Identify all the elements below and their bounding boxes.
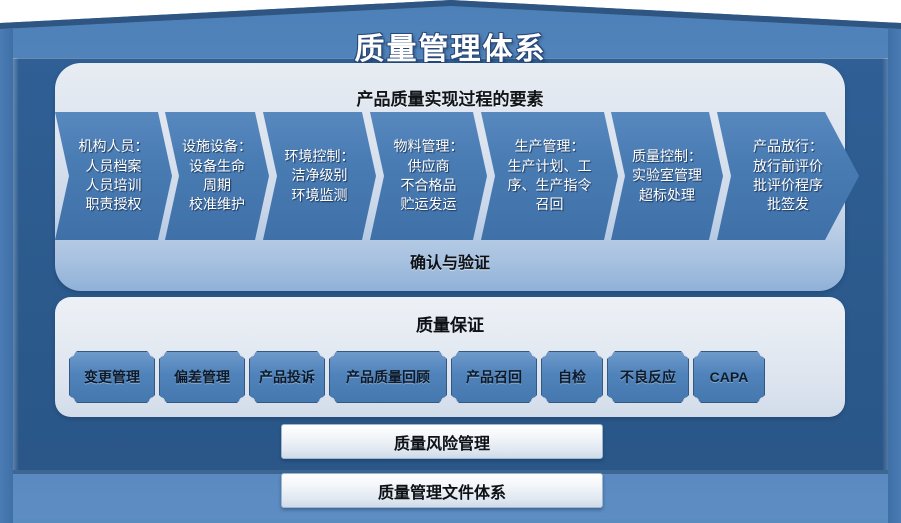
assurance-item[interactable]: 产品质量回顾 [329, 351, 447, 403]
corner-dot-icon [239, 397, 248, 406]
wall-highlight-right [882, 58, 888, 470]
quality-management-system-diagram: 质量管理体系 产品质量实现过程的要素 确认与验证 机构人员：人员档案人员培训职责… [0, 0, 901, 523]
corner-dot-icon [538, 348, 547, 357]
quality-risk-management-bar[interactable]: 质量风险管理 [281, 424, 603, 459]
assurance-item[interactable]: 不良反应 [607, 351, 689, 403]
assurance-item-label: 产品召回 [466, 367, 522, 387]
corner-dot-icon [690, 397, 699, 406]
assurance-item[interactable]: 偏差管理 [159, 351, 245, 403]
corner-dot-icon [604, 348, 613, 357]
assurance-item-label: 自检 [558, 367, 586, 387]
assurance-item-label: CAPA [710, 369, 749, 385]
corner-dot-icon [326, 348, 335, 357]
corner-dot-icon [683, 348, 692, 357]
corner-dot-icon [66, 348, 75, 357]
assurance-item-label: 偏差管理 [174, 367, 230, 387]
assurance-item[interactable]: 产品投诉 [249, 351, 325, 403]
corner-dot-icon [239, 348, 248, 357]
process-step-label: 物料管理：供应商不合格品贮运发运 [390, 137, 468, 214]
process-panel-heading: 产品质量实现过程的要素 [55, 85, 845, 110]
frame-left-column [0, 29, 13, 523]
corner-dot-icon [326, 397, 335, 406]
corner-dot-icon [597, 348, 606, 357]
process-step-4[interactable]: 物料管理：供应商不合格品贮运发运 [370, 112, 487, 240]
corner-dot-icon [531, 397, 540, 406]
corner-dot-icon [597, 397, 606, 406]
corner-dot-icon [441, 397, 450, 406]
process-step-1[interactable]: 机构人员：人员档案人员培训职责授权 [55, 112, 172, 240]
assurance-item[interactable]: 产品召回 [451, 351, 537, 403]
process-step-label: 机构人员：人员档案人员培训职责授权 [75, 137, 153, 214]
assurance-item[interactable]: CAPA [693, 351, 765, 403]
assurance-item[interactable]: 自检 [541, 351, 603, 403]
quality-assurance-panel: 质量保证 变更管理偏差管理产品投诉产品质量回顾产品召回自检不良反应CAPA [55, 297, 845, 417]
corner-dot-icon [683, 397, 692, 406]
corner-dot-icon [531, 348, 540, 357]
process-step-6[interactable]: 质量控制：实验室管理超标处理 [611, 112, 723, 240]
corner-dot-icon [319, 348, 328, 357]
corner-dot-icon [759, 348, 768, 357]
assurance-item[interactable]: 变更管理 [69, 351, 155, 403]
assurance-item-label: 产品投诉 [259, 367, 315, 387]
corner-dot-icon [441, 348, 450, 357]
wall-highlight-left [13, 58, 19, 470]
corner-dot-icon [690, 348, 699, 357]
process-step-label: 环境控制：洁净级别环境监测 [281, 147, 359, 205]
assurance-item-label: 变更管理 [84, 367, 140, 387]
process-step-label: 质量控制：实验室管理超标处理 [628, 147, 706, 205]
assurance-item-label: 不良反应 [620, 367, 676, 387]
process-step-3[interactable]: 环境控制：洁净级别环境监测 [263, 112, 376, 240]
assurance-item-label: 产品质量回顾 [346, 367, 430, 387]
corner-dot-icon [149, 397, 158, 406]
corner-dot-icon [448, 397, 457, 406]
validation-label: 确认与验证 [55, 249, 845, 273]
process-step-label: 设施设备：设备生命周期校准维护 [178, 137, 256, 214]
corner-dot-icon [759, 397, 768, 406]
diagram-title: 质量管理体系 [0, 24, 901, 68]
corner-dot-icon [448, 348, 457, 357]
corner-dot-icon [319, 397, 328, 406]
corner-dot-icon [149, 348, 158, 357]
corner-dot-icon [66, 397, 75, 406]
process-step-5[interactable]: 生产管理：生产计划、工序、生产指令召回 [481, 112, 618, 240]
process-step-label: 产品放行：放行前评价批评价程序批签发 [749, 137, 827, 214]
assurance-item-row: 变更管理偏差管理产品投诉产品质量回顾产品召回自检不良反应CAPA [69, 351, 831, 401]
corner-dot-icon [604, 397, 613, 406]
process-step-2[interactable]: 设施设备：设备生命周期校准维护 [165, 112, 269, 240]
corner-dot-icon [246, 348, 255, 357]
corner-dot-icon [538, 397, 547, 406]
corner-dot-icon [156, 348, 165, 357]
assurance-panel-heading: 质量保证 [55, 311, 845, 336]
quality-document-system-bar[interactable]: 质量管理文件体系 [281, 473, 603, 508]
process-step-label: 生产管理：生产计划、工序、生产指令召回 [504, 137, 596, 214]
corner-dot-icon [246, 397, 255, 406]
corner-dot-icon [156, 397, 165, 406]
frame-right-column [888, 29, 901, 523]
